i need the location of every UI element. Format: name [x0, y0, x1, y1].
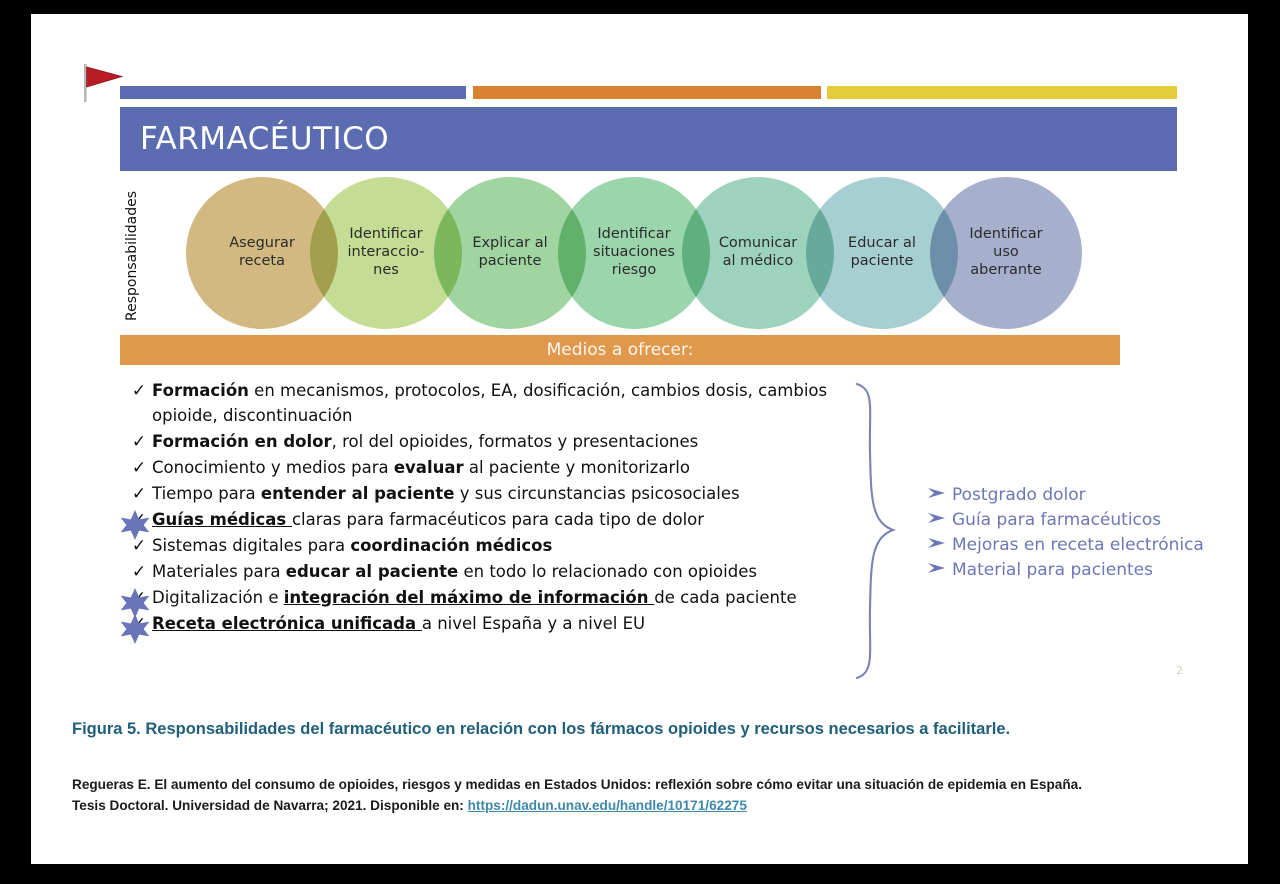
bullet-text: Formación en mecanismos, protocolos, EA,…: [152, 379, 866, 429]
bullet-item: ✓Receta electrónica unificada a nivel Es…: [126, 612, 866, 637]
arrowhead-bullet-icon: [926, 561, 952, 579]
bullet-text: Formación en dolor, rol del opioides, fo…: [152, 430, 866, 455]
bullet-text: Materiales para educar al paciente en to…: [152, 560, 866, 585]
resource-item: Material para pacientes: [926, 557, 1226, 582]
checkmark-icon: ✓: [126, 560, 152, 584]
citation-line-2: Tesis Doctoral. Universidad de Navarra; …: [72, 795, 1207, 816]
bullet-text: Tiempo para entender al paciente y sus c…: [152, 482, 866, 507]
bullet-item: ✓Guías médicas claras para farmacéuticos…: [126, 508, 866, 533]
topbar-segment-blue: [120, 86, 466, 99]
medios-a-ofrecer-band: Medios a ofrecer:: [120, 335, 1120, 365]
medios-a-ofrecer-label: Medios a ofrecer:: [547, 340, 694, 360]
responsibility-circle-7: Identificarusoaberrante: [930, 177, 1082, 329]
document-sheet: FARMACÉUTICO Responsabilidades Asegurarr…: [31, 14, 1248, 864]
checkmark-icon: ✓: [126, 430, 152, 454]
resource-item: Guía para farmacéuticos: [926, 507, 1226, 532]
figure-caption: Figura 5. Responsabilidades del farmacéu…: [72, 718, 1202, 740]
citation-line-1: Regueras E. El aumento del consumo de op…: [72, 774, 1207, 795]
resource-item: Mejoras en receta electrónica: [926, 532, 1226, 557]
responsibility-circle-label: Explicar alpaciente: [462, 235, 557, 270]
citation-link[interactable]: https://dadun.unav.edu/handle/10171/6227…: [468, 798, 747, 813]
resources-arrow-list: Postgrado dolorGuía para farmacéuticosMe…: [926, 482, 1226, 582]
bullet-text: Receta electrónica unificada a nivel Esp…: [152, 612, 866, 637]
responsibility-circle-3: Explicar alpaciente: [434, 177, 586, 329]
resource-label: Guía para farmacéuticos: [952, 510, 1161, 530]
responsibility-circle-label: Asegurarreceta: [219, 235, 305, 270]
bullet-text: Digitalización e integración del máximo …: [152, 586, 866, 611]
figure-graphic: FARMACÉUTICO Responsabilidades Asegurarr…: [31, 14, 1248, 684]
bullet-text: Conocimiento y medios para evaluar al pa…: [152, 456, 866, 481]
citation-block: Regueras E. El aumento del consumo de op…: [72, 774, 1207, 816]
red-pennant-flag-icon: [83, 64, 123, 102]
checkmark-icon: ✓: [126, 456, 152, 480]
circles-row: AsegurarrecetaIdentificarinteraccio-nesE…: [186, 171, 1176, 336]
checkmark-icon: ✓: [126, 534, 152, 558]
bullet-item: ✓Materiales para educar al paciente en t…: [126, 560, 866, 585]
axis-label-responsabilidades: Responsabilidades: [119, 176, 145, 336]
arrowhead-bullet-icon: [926, 486, 952, 504]
bullet-item: ✓Tiempo para entender al paciente y sus …: [126, 482, 866, 507]
citation-prefix: Tesis Doctoral. Universidad de Navarra; …: [72, 798, 468, 813]
topbar-segment-orange: [473, 86, 821, 99]
topbar-segment-yellow: [827, 86, 1177, 99]
responsibility-circle-5: Comunicaral médico: [682, 177, 834, 329]
bullet-item: ✓Formación en mecanismos, protocolos, EA…: [126, 379, 866, 429]
bullet-item: ✓Digitalización e integración del máximo…: [126, 586, 866, 611]
page-number: 2: [1176, 664, 1183, 677]
responsibility-circle-label: Identificarinteraccio-nes: [337, 226, 434, 279]
resource-label: Mejoras en receta electrónica: [952, 535, 1204, 555]
bullet-item: ✓Formación en dolor, rol del opioides, f…: [126, 430, 866, 455]
bullet-text: Guías médicas claras para farmacéuticos …: [152, 508, 866, 533]
arrowhead-bullet-icon: [926, 511, 952, 529]
star-marker-icon: [118, 612, 152, 646]
curly-brace-icon: [849, 382, 907, 680]
bullet-text: Sistemas digitales para coordinación méd…: [152, 534, 866, 559]
title-band: FARMACÉUTICO: [120, 107, 1177, 171]
responsibility-circle-label: Educar alpaciente: [838, 235, 926, 270]
arrowhead-bullet-icon: [926, 536, 952, 554]
axis-label-text: Responsabilidades: [124, 191, 140, 321]
resource-label: Postgrado dolor: [952, 485, 1086, 505]
responsibility-circle-1: Asegurarreceta: [186, 177, 338, 329]
responsibility-circle-label: Identificarsituacionesriesgo: [583, 226, 685, 279]
responsibility-circle-label: Identificarusoaberrante: [959, 226, 1052, 279]
bullet-item: ✓Conocimiento y medios para evaluar al p…: [126, 456, 866, 481]
checkmark-icon: ✓: [126, 482, 152, 506]
resource-label: Material para pacientes: [952, 560, 1153, 580]
figure-title: FARMACÉUTICO: [140, 121, 389, 157]
responsibility-circle-label: Comunicaral médico: [709, 235, 807, 270]
bullet-item: ✓Sistemas digitales para coordinación mé…: [126, 534, 866, 559]
means-bullet-list: ✓Formación en mecanismos, protocolos, EA…: [126, 379, 866, 638]
resource-item: Postgrado dolor: [926, 482, 1226, 507]
checkmark-icon: ✓: [126, 379, 152, 403]
screenshot-root: FARMACÉUTICO Responsabilidades Asegurarr…: [0, 0, 1280, 884]
